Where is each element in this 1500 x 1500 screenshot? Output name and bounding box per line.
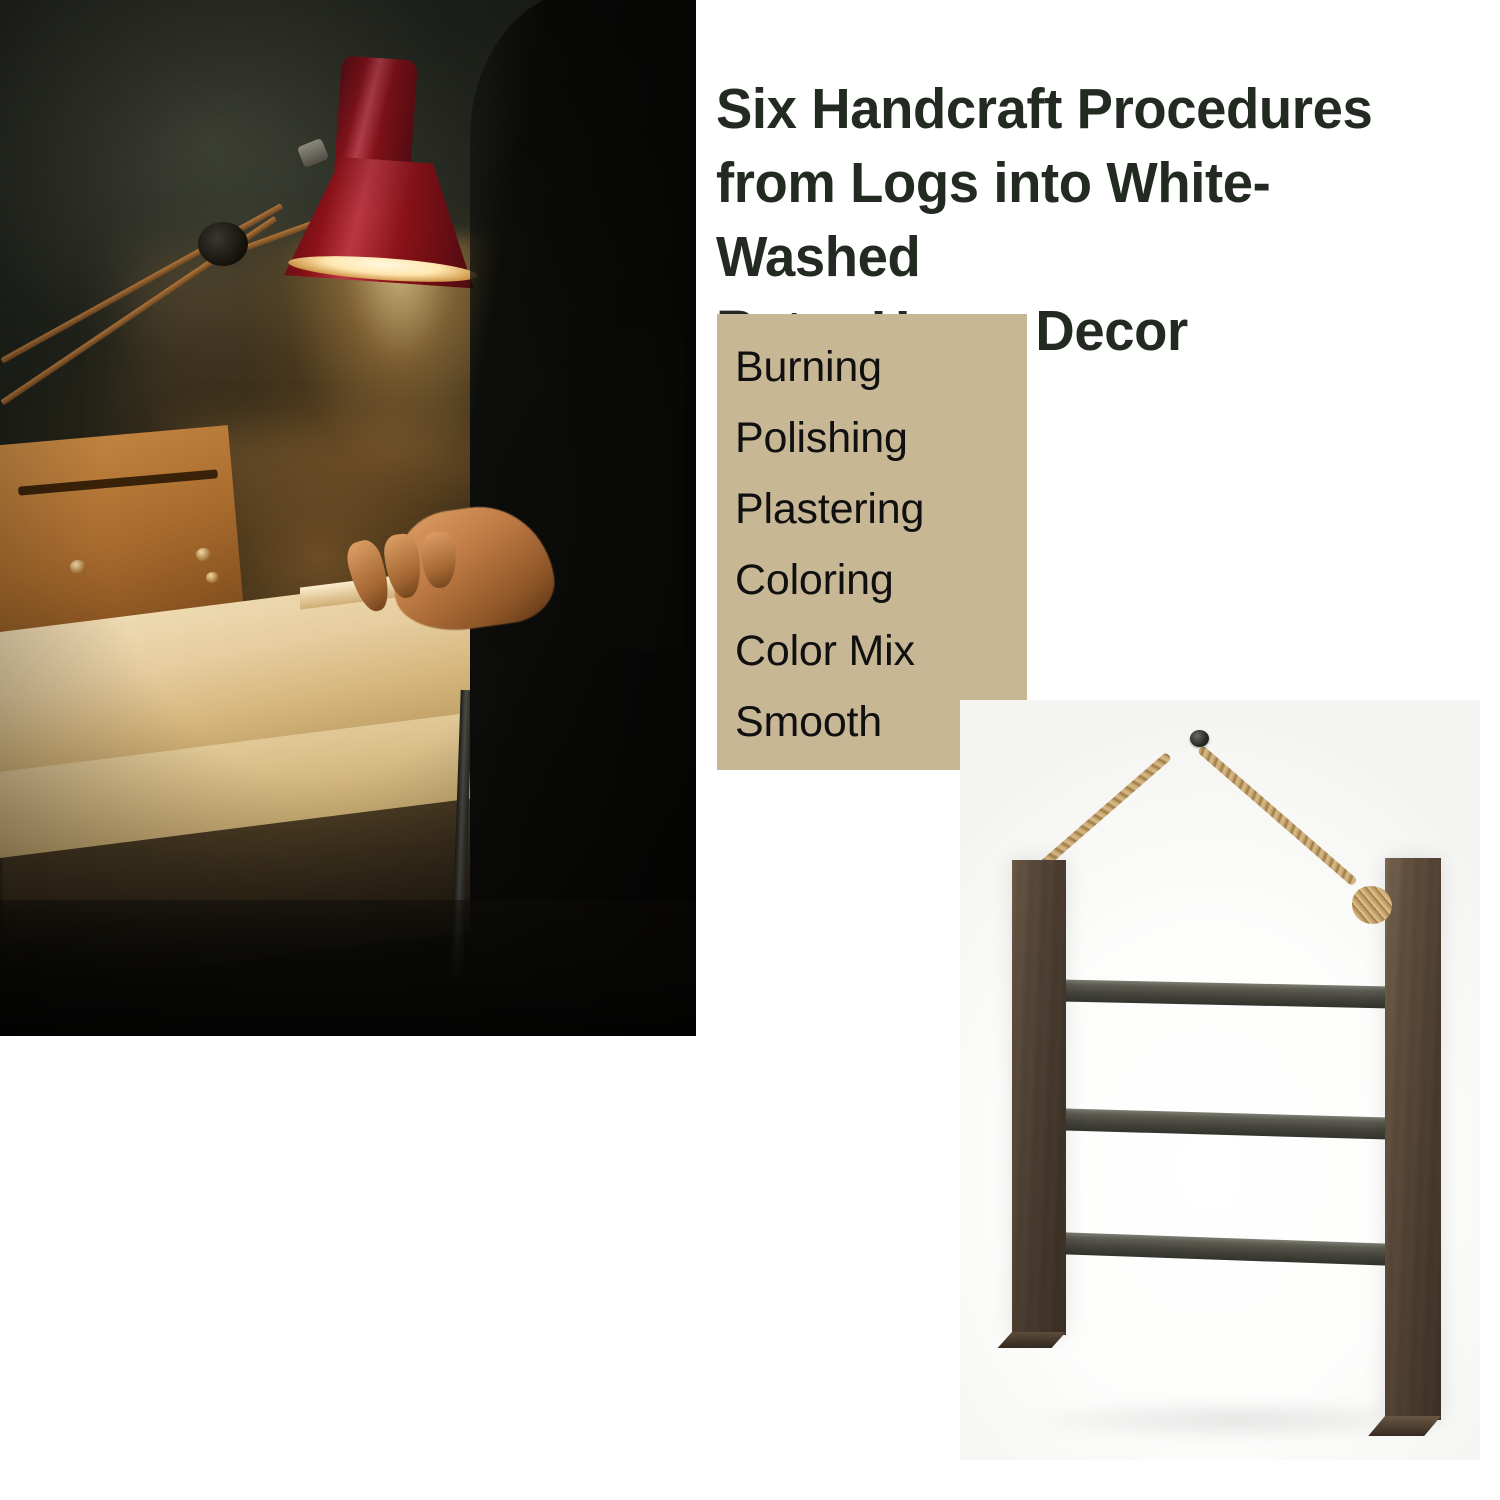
product-ladder-rack <box>960 700 1480 1460</box>
headline-line-1: Six Handcraft Procedures <box>716 72 1451 146</box>
list-item: Coloring <box>735 545 1035 616</box>
photo-floor <box>0 900 696 1036</box>
workbench-fence-hole <box>206 572 219 583</box>
headline-line-2: from Logs into White-Washed <box>716 146 1451 294</box>
workbench-fence-hole <box>196 548 211 561</box>
rope-knot <box>1352 886 1392 924</box>
list-item: Plastering <box>735 474 1035 545</box>
lamp-joint-icon <box>198 222 248 266</box>
workshop-photo <box>0 0 696 1036</box>
list-item: Burning <box>735 332 1035 403</box>
wood-grain-texture <box>1012 860 1066 1335</box>
feature-list: Burning Polishing Plastering Coloring Co… <box>735 332 1035 758</box>
ladder-rail-left <box>1012 860 1066 1335</box>
rope-hanger-nail-icon <box>1190 730 1209 747</box>
list-item: Color Mix <box>735 616 1035 687</box>
workbench-fence-hole <box>70 560 86 574</box>
list-item: Polishing <box>735 403 1035 474</box>
